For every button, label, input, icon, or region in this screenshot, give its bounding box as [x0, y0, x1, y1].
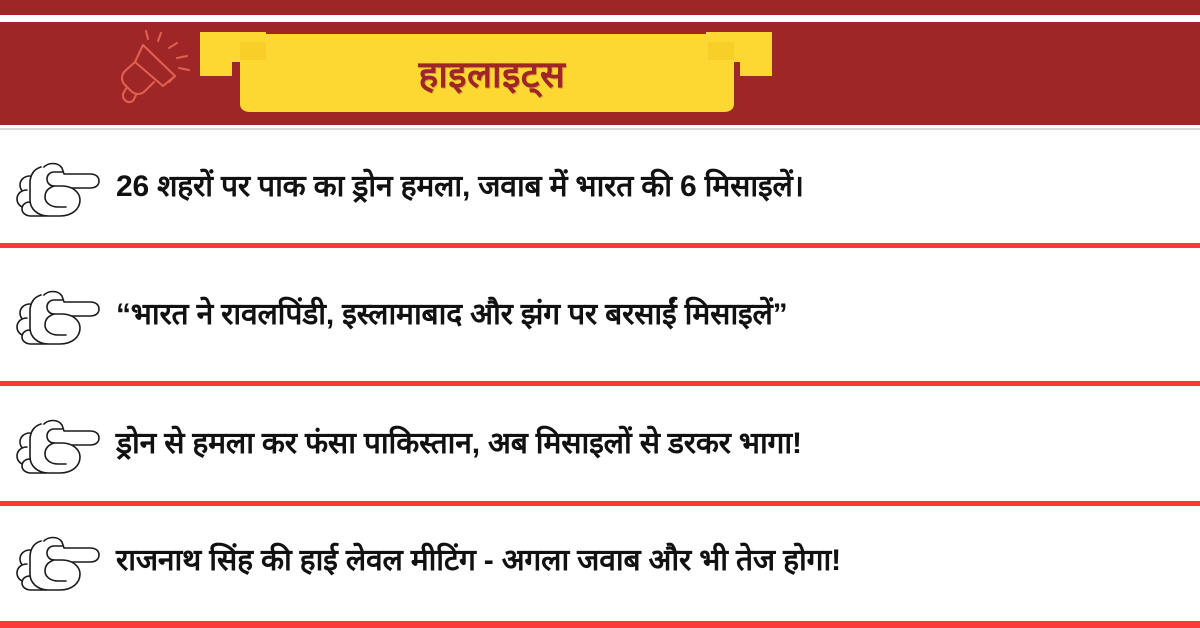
header-top-strip: [0, 0, 1200, 15]
pointing-hand-icon: [10, 284, 102, 346]
ribbon-banner: हाइलाइट्स: [196, 28, 776, 116]
megaphone-icon: [113, 29, 195, 109]
list-item[interactable]: राजनाथ सिंह की हाई लेवल मीटिंग - अगला जव…: [0, 506, 1200, 616]
list-item[interactable]: “भारत ने रावलपिंडी, इस्लामाबाद और झंग पर…: [0, 248, 1200, 381]
highlights-card: हाइलाइट्स 26 शहरों पर पाक का ड्रोन हमला,…: [0, 0, 1200, 628]
list-item[interactable]: ड्रोन से हमला कर फंसा पाकिस्तान, अब मिसा…: [0, 386, 1200, 501]
highlights-list: 26 शहरों पर पाक का ड्रोन हमला, जवाब में …: [0, 130, 1200, 616]
pointing-hand-icon: [10, 156, 102, 218]
list-item-text: “भारत ने रावलपिंडी, इस्लामाबाद और झंग पर…: [116, 296, 1200, 334]
bottom-accent-bar: [0, 621, 1200, 628]
pointing-hand-icon: [10, 413, 102, 475]
pointing-hand-icon: [10, 530, 102, 592]
list-item-text: 26 शहरों पर पाक का ड्रोन हमला, जवाब में …: [116, 168, 1200, 206]
list-item-text: राजनाथ सिंह की हाई लेवल मीटिंग - अगला जव…: [116, 542, 1200, 580]
list-item[interactable]: 26 शहरों पर पाक का ड्रोन हमला, जवाब में …: [0, 130, 1200, 243]
list-item-text: ड्रोन से हमला कर फंसा पाकिस्तान, अब मिसा…: [116, 425, 1200, 463]
page-title: हाइलाइट्स: [196, 28, 776, 116]
